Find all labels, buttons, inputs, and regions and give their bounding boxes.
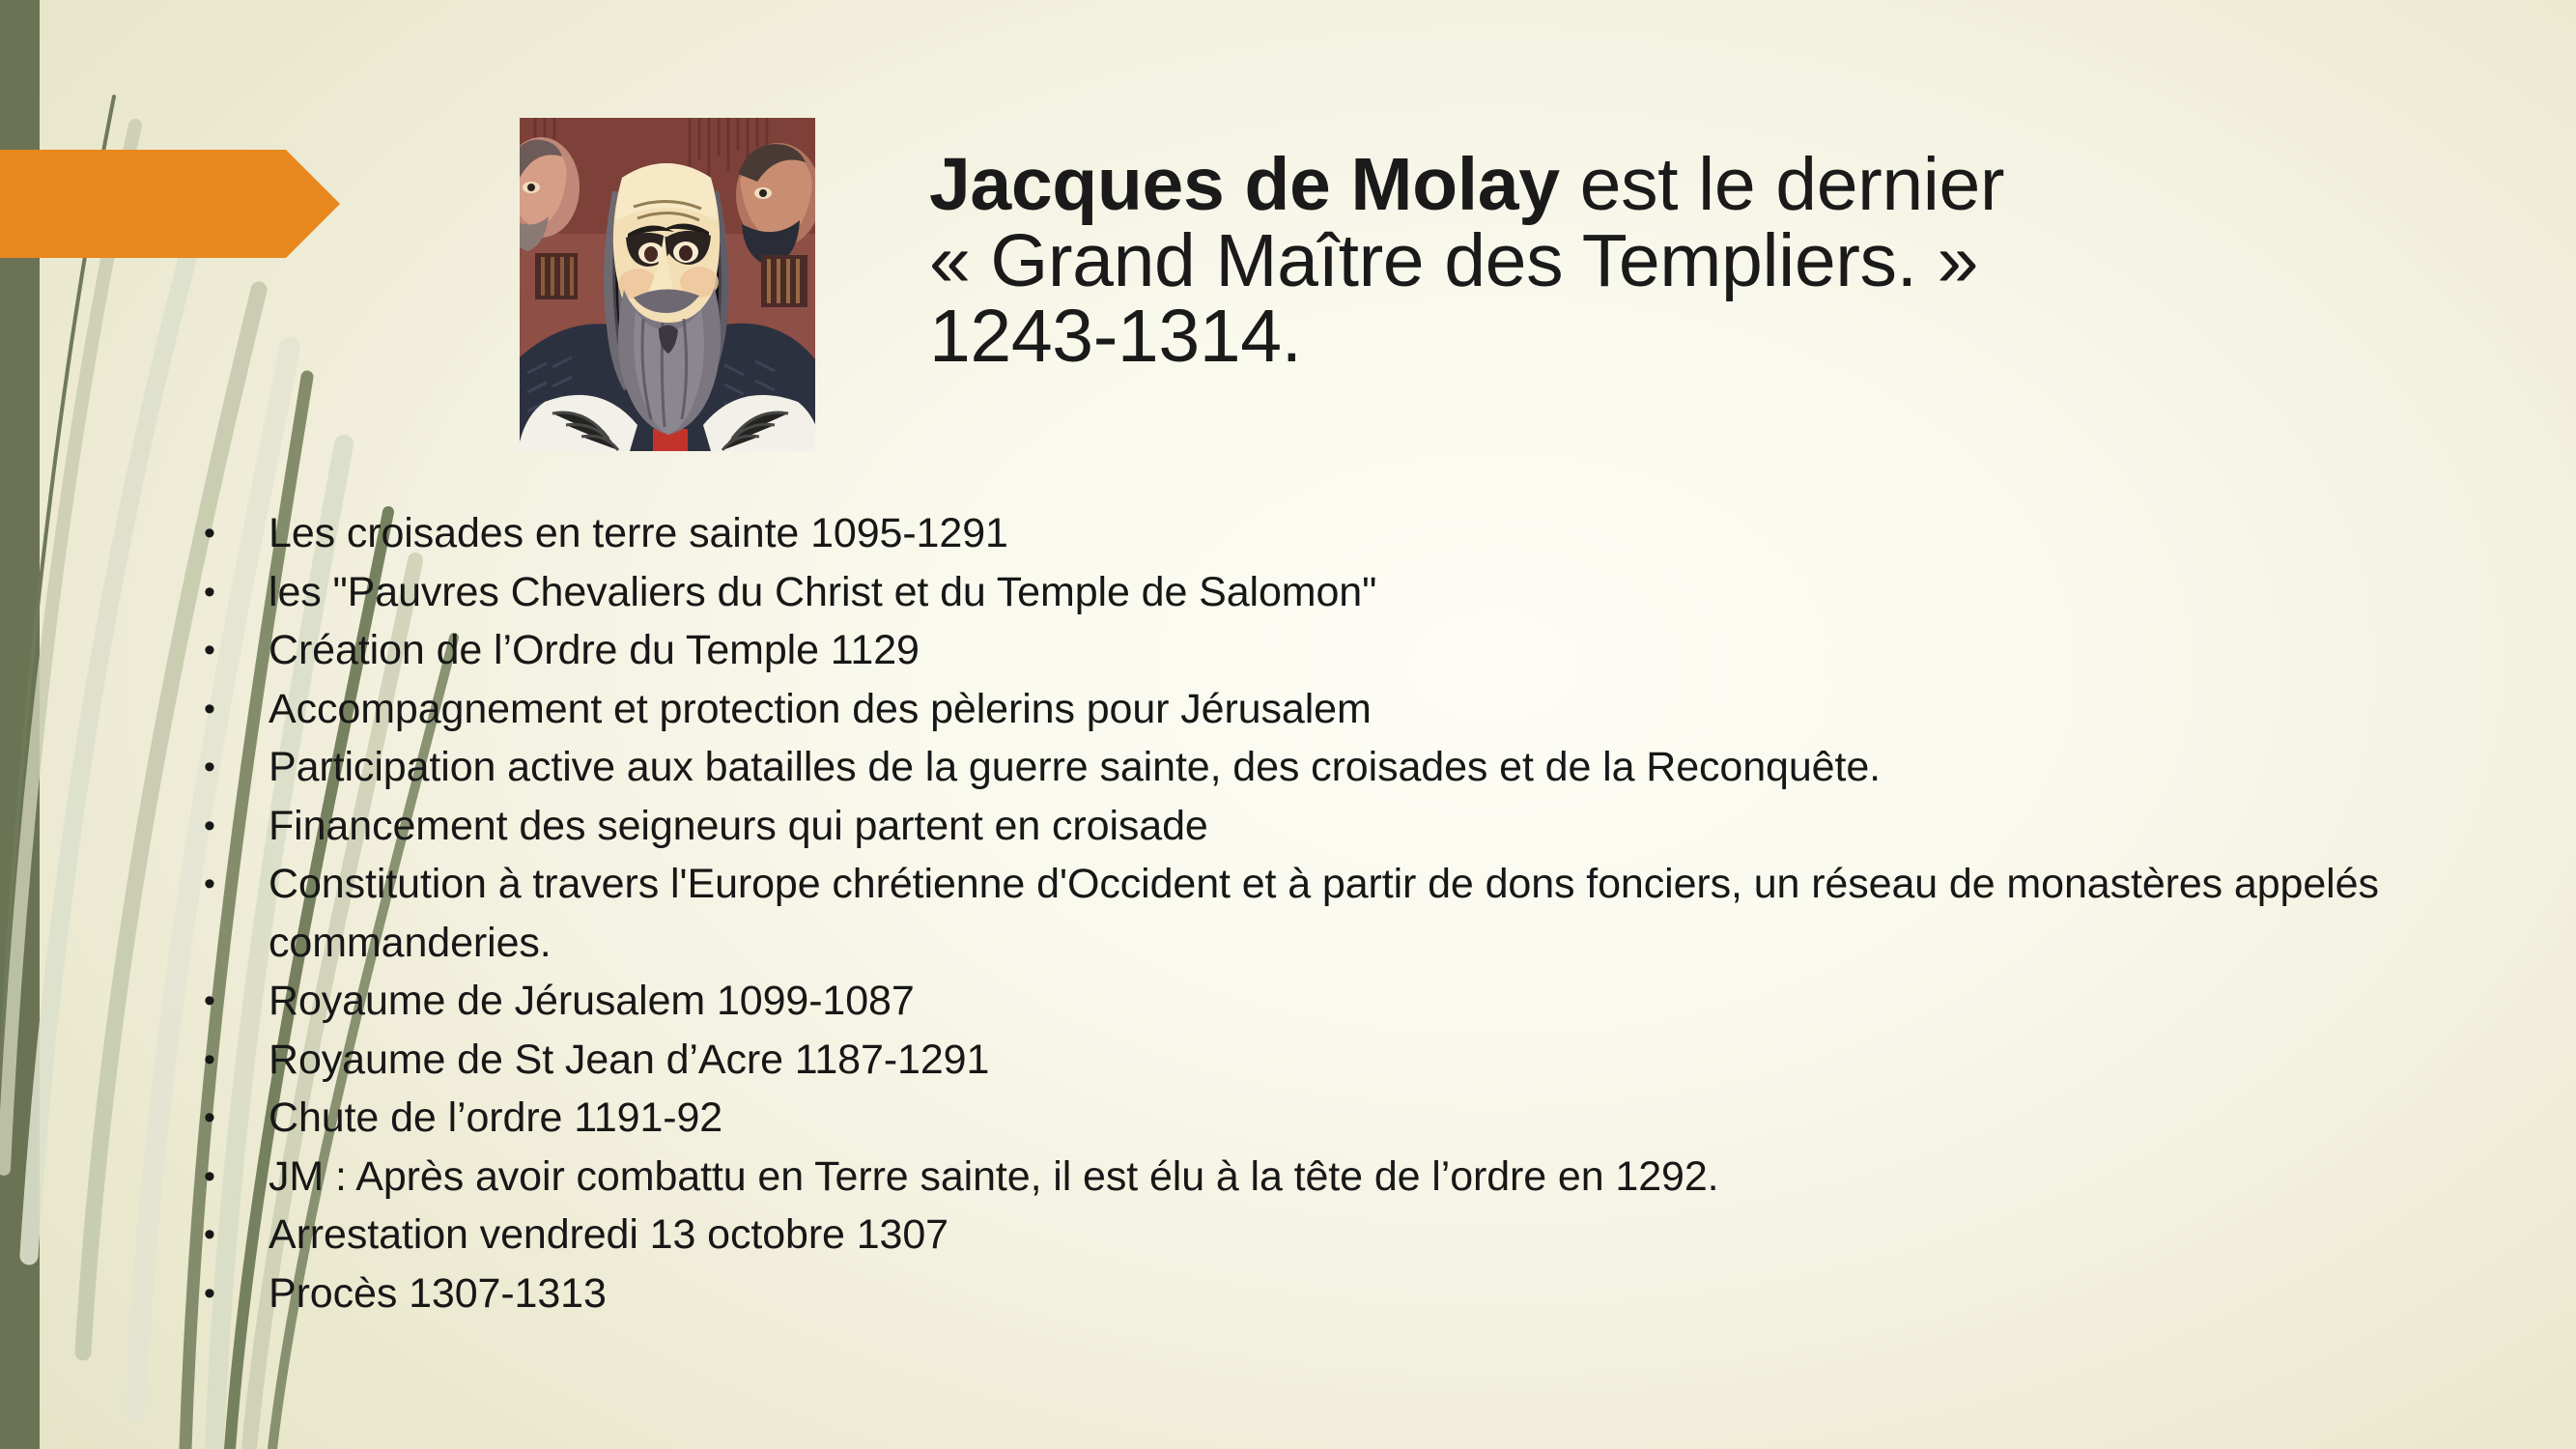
bullet-marker-icon: •: [198, 621, 269, 680]
list-item-label: Création de l’Ordre du Temple 1129: [269, 621, 2535, 680]
bullet-marker-icon: •: [198, 738, 269, 797]
list-item: •Financement des seigneurs qui partent e…: [198, 797, 2535, 856]
list-item-label: Procès 1307-1313: [269, 1264, 2535, 1323]
title-line-1-rest: est le dernier: [1560, 143, 2005, 226]
orange-arrow-banner: [0, 150, 340, 258]
bullet-marker-icon: •: [198, 855, 269, 914]
bullet-marker-icon: •: [198, 1206, 269, 1264]
list-item: •Procès 1307-1313: [198, 1264, 2535, 1323]
list-item-label: Participation active aux batailles de la…: [269, 738, 2535, 797]
bullet-marker-icon: •: [198, 504, 269, 563]
list-item: •Arrestation vendredi 13 octobre 1307: [198, 1206, 2535, 1264]
list-item-label: Chute de l’ordre 1191-92: [269, 1089, 2535, 1148]
list-item-label: Financement des seigneurs qui partent en…: [269, 797, 2535, 856]
page-title: Jacques de Molay est le dernier « Grand …: [929, 147, 2533, 375]
list-item-label: Arrestation vendredi 13 octobre 1307: [269, 1206, 2535, 1264]
bullet-list: •Les croisades en terre sainte 1095-1291…: [198, 504, 2535, 1322]
list-item: •Création de l’Ordre du Temple 1129: [198, 621, 2535, 680]
jacques-de-molay-portrait: [520, 118, 815, 451]
list-item: •les "Pauvres Chevaliers du Christ et du…: [198, 563, 2535, 622]
bullet-marker-icon: •: [198, 1089, 269, 1148]
list-item: •JM : Après avoir combattu en Terre sain…: [198, 1148, 2535, 1207]
list-item: •Constitution à travers l'Europe chrétie…: [198, 855, 2535, 972]
list-item-label: Royaume de St Jean d’Acre 1187-1291: [269, 1031, 2535, 1090]
bullet-marker-icon: •: [198, 680, 269, 739]
list-item-label: Royaume de Jérusalem 1099-1087: [269, 972, 2535, 1031]
list-item: •Royaume de St Jean d’Acre 1187-1291: [198, 1031, 2535, 1090]
bullet-marker-icon: •: [198, 1264, 269, 1323]
list-item-label: Les croisades en terre sainte 1095-1291: [269, 504, 2535, 563]
title-line-3: 1243-1314.: [929, 298, 2533, 375]
list-item-label: Constitution à travers l'Europe chrétien…: [269, 855, 2535, 972]
title-line-2: « Grand Maître des Templiers. »: [929, 223, 2533, 299]
title-name-strong: Jacques de Molay: [929, 143, 1560, 226]
bullet-marker-icon: •: [198, 563, 269, 622]
list-item: •Royaume de Jérusalem 1099-1087: [198, 972, 2535, 1031]
list-item: •Participation active aux batailles de l…: [198, 738, 2535, 797]
list-item: •Les croisades en terre sainte 1095-1291: [198, 504, 2535, 563]
title-line-1: Jacques de Molay est le dernier: [929, 147, 2533, 223]
bullet-marker-icon: •: [198, 797, 269, 856]
list-item: •Accompagnement et protection des pèleri…: [198, 680, 2535, 739]
list-item-label: les "Pauvres Chevaliers du Christ et du …: [269, 563, 2535, 622]
list-item: •Chute de l’ordre 1191-92: [198, 1089, 2535, 1148]
list-item-label: Accompagnement et protection des pèlerin…: [269, 680, 2535, 739]
list-item-label: JM : Après avoir combattu en Terre saint…: [269, 1148, 2535, 1207]
presentation-slide: Jacques de Molay est le dernier « Grand …: [0, 0, 2576, 1449]
bullet-marker-icon: •: [198, 1031, 269, 1090]
portrait-illustration: [520, 118, 815, 451]
bullet-marker-icon: •: [198, 1148, 269, 1207]
bullet-marker-icon: •: [198, 972, 269, 1031]
